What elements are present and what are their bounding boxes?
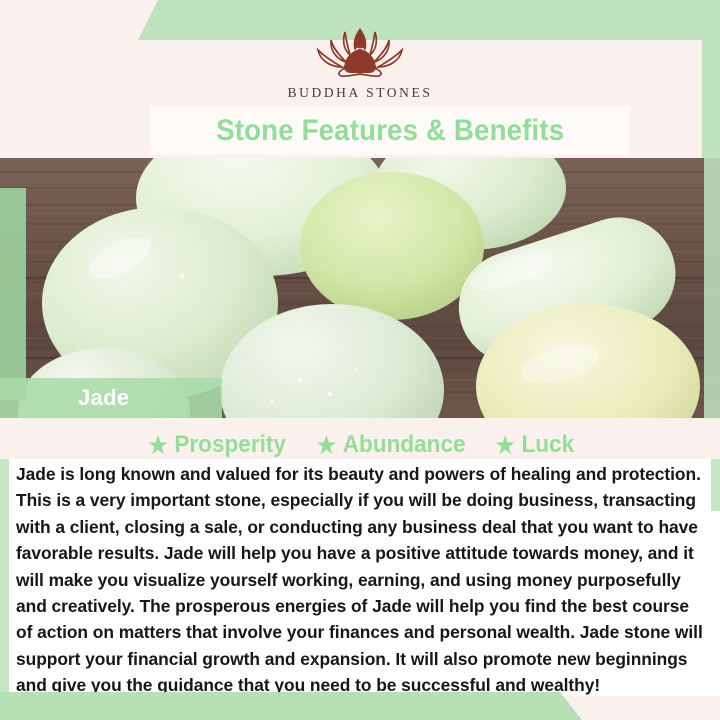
- keyword-prosperity: ★ Prosperity: [148, 431, 286, 459]
- title-banner: Stone Features & Benefits: [150, 106, 630, 155]
- keyword-luck: ★ Luck: [495, 431, 574, 459]
- keyword-label: Luck: [521, 431, 574, 459]
- description-text: Jade is long known and valued for its be…: [16, 461, 704, 699]
- body-right-accent: [711, 459, 720, 511]
- stone-name-label: Jade: [78, 385, 129, 411]
- star-icon: ★: [317, 434, 336, 457]
- star-icon: ★: [495, 434, 514, 457]
- right-accent-strip: [704, 158, 720, 418]
- keyword-label: Prosperity: [174, 431, 286, 459]
- infographic-page: BUDDHA STONES Stone Features & Benefits: [0, 0, 720, 720]
- keyword-abundance: ★ Abundance: [317, 431, 466, 459]
- brand-logo: BUDDHA STONES: [0, 22, 720, 112]
- lotus-meditation-icon: [301, 22, 419, 84]
- body-left-accent: [0, 459, 9, 700]
- keyword-list: ★ Prosperity ★ Abundance ★ Luck: [0, 428, 720, 462]
- brand-name: BUDDHA STONES: [288, 85, 433, 101]
- page-title: Stone Features & Benefits: [216, 114, 564, 148]
- left-accent-strip: [0, 188, 26, 400]
- star-icon: ★: [148, 434, 167, 457]
- stone-name-banner: Jade: [0, 378, 222, 418]
- keyword-label: Abundance: [343, 431, 466, 459]
